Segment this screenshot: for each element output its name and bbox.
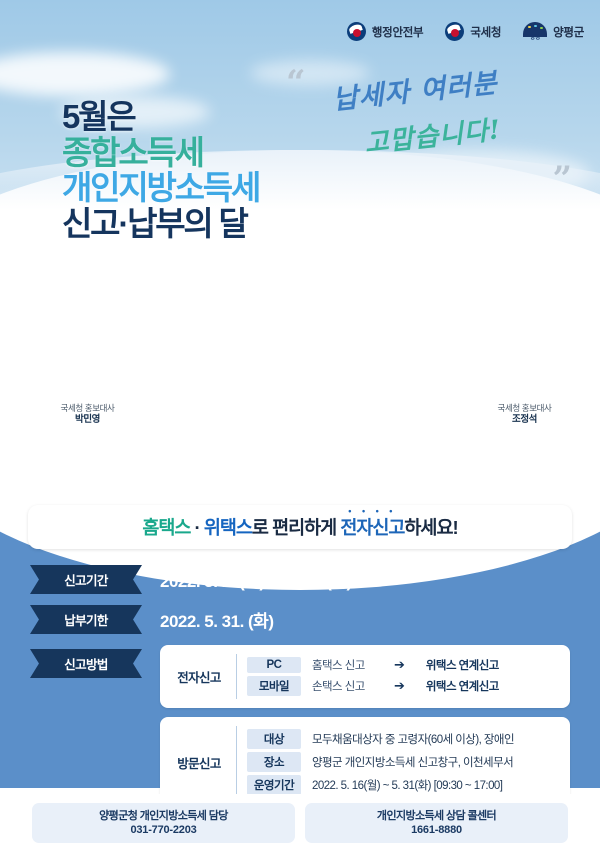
- chip-mobile: 모바일: [247, 676, 301, 696]
- banner-hometax-label: 홈택스: [142, 517, 190, 538]
- text-operating-period: 2022. 5. 16(월) ~ 5. 31(화) [09:30 ~ 17:00…: [312, 777, 502, 793]
- banner-separator: ·: [190, 517, 203, 538]
- row-filing-period: 신고기간 2022. 5. 1. (일) ~ 5. 31. (화): [30, 565, 570, 594]
- cloud-decoration: [0, 52, 170, 96]
- efiling-banner-text: 홈택스 · 위택스로 편리하게 전자신고하세요!: [142, 514, 457, 540]
- efiling-banner: 홈택스 · 위택스로 편리하게 전자신고하세요!: [28, 505, 572, 549]
- headline-line-1: 5월은: [62, 100, 259, 134]
- tax-poster: 행정안전부 국세청 양평 양평군 5월은 종합소득세 개인지방소득세 신고·납부…: [0, 0, 600, 852]
- banner-tail-text: 하세요!: [404, 517, 457, 538]
- logo-label-moi: 행정안전부: [372, 24, 423, 40]
- headline-line-2: 종합소득세: [62, 136, 259, 170]
- contact-number-county: 031-770-2203: [130, 823, 196, 837]
- label-filing-period: 신고기간: [30, 565, 142, 594]
- card-divider: [236, 654, 237, 699]
- headline-line-3: 개인지방소득세: [62, 171, 259, 205]
- text-mobile-from: 손택스 신고: [312, 678, 384, 694]
- arrow-right-icon: ➔: [394, 657, 405, 673]
- deadline-rows: 신고기간 2022. 5. 1. (일) ~ 5. 31. (화) 납부기한 2…: [0, 565, 600, 634]
- line-location: 장소 양평군 개인지방소득세 신고창구, 이천세무서: [247, 752, 558, 772]
- card-divider: [236, 726, 237, 798]
- card-title-visit: 방문신고: [172, 753, 226, 772]
- quote-close-mark: ”: [552, 162, 572, 196]
- contact-footer: 양평군청 개인지방소득세 담당 031-770-2203 개인지방소득세 상담 …: [0, 794, 600, 852]
- banner-wetax-label: 위택스: [204, 517, 252, 538]
- celebrity-role-left: 국세청 홍보대사: [40, 403, 135, 414]
- card-title-electronic: 전자신고: [172, 667, 226, 686]
- celebrity-name-right: 조정석: [477, 414, 572, 427]
- value-filing-period: 2022. 5. 1. (일) ~ 5. 31. (화): [160, 567, 352, 592]
- contact-title-callcenter: 개인지방소득세 상담 콜센터: [377, 809, 496, 823]
- logo-moi: 행정안전부: [347, 22, 423, 41]
- text-target: 모두채움대상자 중 고령자(60세 이상), 장애인: [312, 731, 514, 747]
- banner-middle-text: 로 편리하게: [252, 517, 340, 538]
- text-location: 양평군 개인지방소득세 신고창구, 이천세무서: [312, 754, 513, 770]
- taegeuk-icon: [445, 22, 464, 41]
- celebrity-role-right: 국세청 홍보대사: [477, 403, 572, 414]
- label-payment-deadline: 납부기한: [30, 605, 142, 634]
- taegeuk-icon: [347, 22, 366, 41]
- text-mobile-to: 위택스 연계신고: [426, 678, 499, 694]
- celebrity-caption-left: 국세청 홍보대사 박민영: [40, 403, 135, 427]
- arrow-right-icon: ➔: [394, 678, 405, 694]
- text-pc-from: 홈택스 신고: [312, 657, 384, 673]
- celebrity-name-left: 박민영: [40, 414, 135, 427]
- label-filing-method: 신고방법: [30, 649, 142, 678]
- handwriting-line-2: 고맙습니다!: [363, 103, 564, 160]
- filing-method-cards: 전자신고 PC 홈택스 신고 ➔ 위택스 연계신고 모바일 손택스 신고 ➔: [160, 645, 570, 816]
- banner-efiling-emphasis: 전자신고: [340, 517, 404, 538]
- page-title: 5월은 종합소득세 개인지방소득세 신고·납부의 달: [62, 100, 259, 241]
- quote-open-mark: “: [286, 66, 306, 100]
- chip-location: 장소: [247, 752, 301, 772]
- logo-nts: 국세청: [445, 22, 501, 41]
- headline-line-4: 신고·납부의 달: [62, 207, 259, 241]
- line-target: 대상 모두채움대상자 중 고령자(60세 이상), 장애인: [247, 729, 558, 749]
- chip-target: 대상: [247, 729, 301, 749]
- contact-number-callcenter: 1661-8880: [411, 823, 462, 837]
- celebrity-caption-right: 국세청 홍보대사 조정석: [477, 403, 572, 427]
- line-pc: PC 홈택스 신고 ➔ 위택스 연계신고: [247, 657, 558, 673]
- logo-yangpyeong: 양평 양평군: [523, 22, 584, 41]
- contact-box-county: 양평군청 개인지방소득세 담당 031-770-2203: [32, 803, 295, 843]
- info-content: 홈택스 · 위택스로 편리하게 전자신고하세요! 신고기간 2022. 5. 1…: [0, 440, 600, 816]
- line-mobile: 모바일 손택스 신고 ➔ 위택스 연계신고: [247, 676, 558, 696]
- chip-operating-period: 운영기간: [247, 775, 301, 795]
- handwritten-message: “ 납세자 여러분 고맙습니다! ”: [312, 66, 562, 186]
- chip-pc: PC: [247, 657, 301, 673]
- logo-label-nts: 국세청: [470, 24, 501, 40]
- yangpyeong-emblem-icon: 양평: [523, 22, 547, 41]
- filing-method-block: 신고방법 전자신고 PC 홈택스 신고 ➔ 위택스 연계신고 모바일: [0, 645, 600, 816]
- logo-label-yangpyeong: 양평군: [553, 24, 584, 40]
- text-pc-to: 위택스 연계신고: [426, 657, 499, 673]
- contact-box-callcenter: 개인지방소득세 상담 콜센터 1661-8880: [305, 803, 568, 843]
- logo-row: 행정안전부 국세청 양평 양평군: [347, 22, 584, 41]
- line-operating-period: 운영기간 2022. 5. 16(월) ~ 5. 31(화) [09:30 ~ …: [247, 775, 558, 795]
- row-payment-deadline: 납부기한 2022. 5. 31. (화): [30, 605, 570, 634]
- card-electronic-filing: 전자신고 PC 홈택스 신고 ➔ 위택스 연계신고 모바일 손택스 신고 ➔: [160, 645, 570, 708]
- contact-title-county: 양평군청 개인지방소득세 담당: [99, 809, 228, 823]
- value-payment-deadline: 2022. 5. 31. (화): [160, 607, 273, 632]
